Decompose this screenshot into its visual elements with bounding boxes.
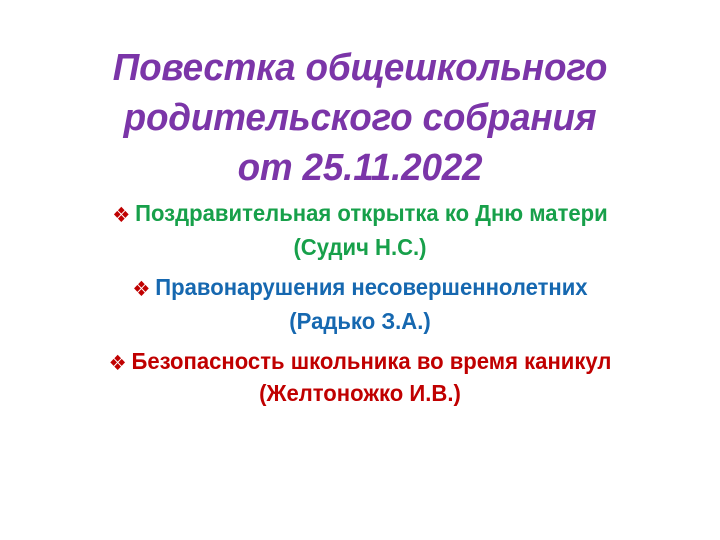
agenda-item-heading: ❖Правонарушения несовершеннолетних (34, 270, 687, 304)
agenda-item: ❖Поздравительная открытка ко Дню матери … (20, 196, 700, 264)
diamond-bullet-icon: ❖ (112, 205, 130, 226)
agenda-item: ❖Безопасность школьника во время каникул… (20, 344, 700, 409)
agenda-item-presenter: (Желтоножко И.В.) (34, 378, 687, 409)
agenda-item-heading: ❖Поздравительная открытка ко Дню матери (34, 196, 687, 230)
agenda-item-presenter: (Радько З.А.) (34, 304, 687, 338)
agenda-item-presenter: (Судич Н.С.) (34, 230, 687, 264)
agenda-item-heading-text: Безопасность школьника во время каникул (131, 348, 611, 374)
agenda-list: ❖Поздравительная открытка ко Дню матери … (20, 196, 700, 413)
agenda-item-heading-text: Правонарушения несовершеннолетних (155, 274, 587, 300)
presentation-slide: Повестка общешкольного родительского соб… (0, 0, 720, 540)
slide-title-line-2: родительского собрания (50, 93, 671, 143)
diamond-bullet-icon: ❖ (109, 353, 127, 374)
slide-title: Повестка общешкольного родительского соб… (50, 43, 671, 193)
slide-title-line-3: от 25.11.2022 (50, 143, 671, 193)
agenda-item-heading-text: Поздравительная открытка ко Дню матери (135, 200, 608, 226)
agenda-item-heading: ❖Безопасность школьника во время каникул (34, 344, 687, 378)
slide-title-line-1: Повестка общешкольного (50, 43, 671, 93)
agenda-item: ❖Правонарушения несовершеннолетних (Радь… (20, 270, 700, 338)
diamond-bullet-icon: ❖ (132, 279, 150, 300)
